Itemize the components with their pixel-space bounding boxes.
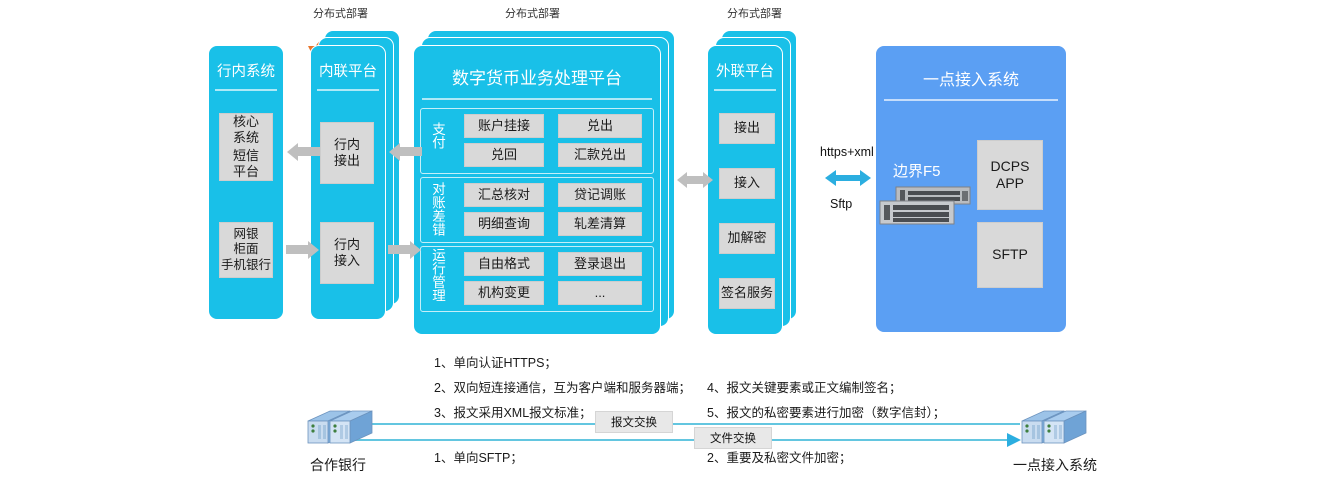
f5-label: 边界F5: [893, 160, 941, 181]
group-label-payment: 支付: [428, 122, 444, 149]
arrow-outbound-to-core: [286, 142, 320, 162]
panel-title-single-access-system: 一点接入系统: [876, 66, 1066, 90]
arrow-extranet-access-bidirectional: [824, 168, 872, 188]
note-left-3: 3、报文采用XML报文标准；: [434, 402, 592, 421]
module-core-system[interactable]: 核心 系统 短信 平台: [219, 113, 273, 181]
link-label-sftp: Sftp: [830, 197, 852, 211]
group-label-reconciliation: 对账差错: [428, 182, 444, 236]
divider-intranet-platform: [317, 89, 379, 91]
divider-single-access-system: [884, 99, 1058, 101]
module-detail-query[interactable]: 明细查询: [464, 212, 544, 236]
module-more[interactable]: ...: [558, 281, 642, 305]
note-bottom-left: 1、单向SFTP；: [434, 447, 523, 466]
flow-line-message-exchange: [365, 423, 1020, 425]
module-dcps-app[interactable]: DCPS APP: [977, 140, 1043, 210]
group-label-operations: 运行管理: [428, 248, 444, 302]
deploy-label-dcep: 分布式部署: [505, 5, 560, 21]
module-login-logout[interactable]: 登录退出: [558, 252, 642, 276]
divider-dcep-platform: [422, 98, 652, 100]
note-bottom-right: 2、重要及私密文件加密；: [707, 447, 851, 466]
module-netting-settlement[interactable]: 轧差清算: [558, 212, 642, 236]
note-left-1: 1、单向认证HTTPS；: [434, 352, 557, 371]
arrow-dcep-to-intranet: [388, 142, 422, 162]
note-right-5: 5、报文的私密要素进行加密（数字信封）；: [707, 402, 945, 421]
server-icon-single-access: [1012, 403, 1088, 449]
link-label-https-xml: https+xml: [820, 145, 874, 159]
flow-line-file-exchange: [352, 439, 1007, 441]
module-org-change[interactable]: 机构变更: [464, 281, 544, 305]
panel-title-bank-internal: 行内系统: [209, 60, 283, 81]
arrow-intranet-to-dcep: [388, 240, 422, 260]
module-signature-service[interactable]: 签名服务: [719, 278, 775, 309]
server-label-single-access: 一点接入系统: [995, 455, 1115, 475]
module-sftp[interactable]: SFTP: [977, 222, 1043, 288]
f5-switch-icon: [876, 185, 972, 229]
note-right-4: 4、报文关键要素或正文编制签名；: [707, 377, 901, 396]
module-ebank-counter-mobile[interactable]: 网银 柜面 手机银行: [219, 222, 273, 278]
arrow-channel-to-inbound: [286, 240, 320, 260]
flow-tag-message-exchange[interactable]: 报文交换: [595, 411, 673, 433]
server-icon-partner-bank: [298, 403, 374, 449]
divider-bank-internal: [215, 89, 277, 91]
module-summary-check[interactable]: 汇总核对: [464, 183, 544, 207]
module-encryption[interactable]: 加解密: [719, 223, 775, 254]
deploy-label-intranet: 分布式部署: [313, 5, 368, 21]
panel-title-intranet-platform: 内联平台: [311, 60, 385, 81]
deploy-label-extranet: 分布式部署: [727, 5, 782, 21]
module-exchange-back[interactable]: 兑回: [464, 143, 544, 167]
arrow-dcep-extranet-bidirectional: [676, 170, 714, 190]
module-bank-inbound[interactable]: 行内 接入: [320, 222, 374, 284]
module-extranet-outbound[interactable]: 接出: [719, 113, 775, 144]
panel-bank-internal: 行内系统: [208, 45, 284, 320]
architecture-diagram: 分布式部署 分布式部署 分布式部署 行内系统 核心 系统 短信 平台 网银 柜面…: [0, 0, 1333, 483]
divider-extranet-platform: [714, 89, 776, 91]
module-remittance-out[interactable]: 汇款兑出: [558, 143, 642, 167]
module-exchange-out[interactable]: 兑出: [558, 114, 642, 138]
module-free-format[interactable]: 自由格式: [464, 252, 544, 276]
module-account-link[interactable]: 账户挂接: [464, 114, 544, 138]
panel-title-extranet-platform: 外联平台: [708, 60, 782, 81]
module-bank-outbound[interactable]: 行内 接出: [320, 122, 374, 184]
flow-tag-file-exchange[interactable]: 文件交换: [694, 427, 772, 449]
note-left-2: 2、双向短连接通信，互为客户端和服务器端；: [434, 377, 691, 396]
module-extranet-inbound[interactable]: 接入: [719, 168, 775, 199]
module-credit-adjust[interactable]: 贷记调账: [558, 183, 642, 207]
panel-title-dcep-platform: 数字货币业务处理平台: [414, 64, 660, 89]
server-label-partner-bank: 合作银行: [283, 455, 393, 475]
